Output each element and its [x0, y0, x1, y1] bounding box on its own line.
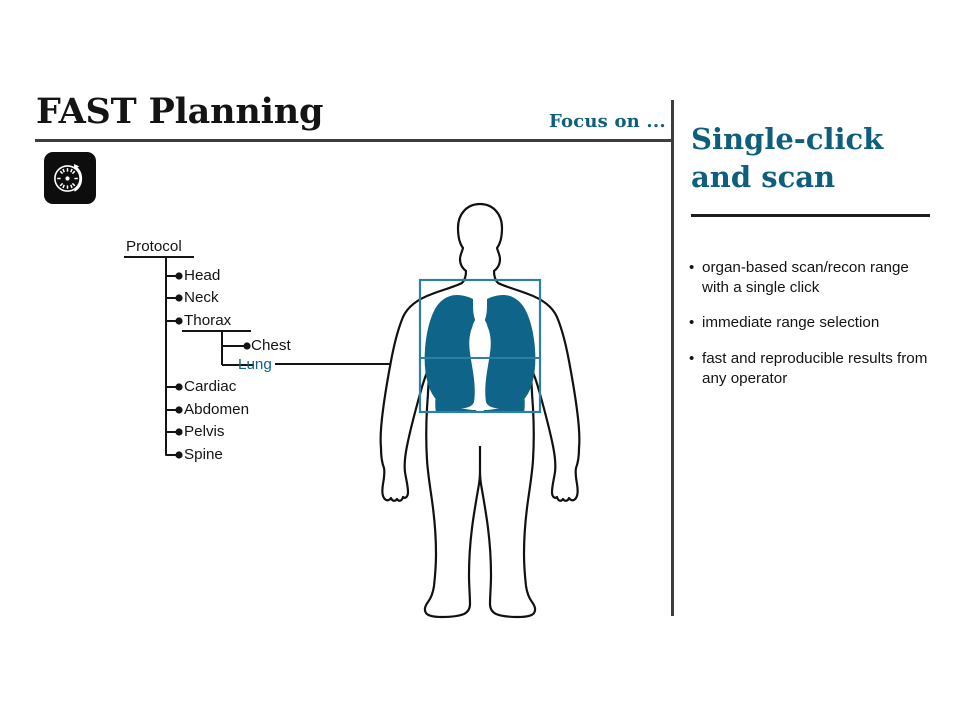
tree-item-head[interactable]: Head — [184, 267, 220, 284]
tree-item-thorax[interactable]: Thorax — [184, 312, 231, 329]
tree-root-label[interactable]: Protocol — [126, 238, 182, 255]
tree-item-lung[interactable]: Lung — [238, 356, 272, 373]
panel-heading-line2: and scan — [691, 158, 941, 196]
slide-canvas: FAST Planning — [0, 0, 960, 720]
scan-dial-icon — [44, 152, 96, 204]
tree-item-cardiac[interactable]: Cardiac — [184, 378, 236, 395]
page-title: FAST Planning — [36, 94, 323, 129]
panel-heading-line1: Single-click — [691, 120, 941, 158]
tree-item-abdomen[interactable]: Abdomen — [184, 401, 249, 418]
panel-heading-rule — [691, 214, 930, 217]
title-divider-rule — [35, 139, 672, 142]
human-body-figure — [370, 198, 590, 623]
panel-bullet-list: organ-based scan/recon range with a sing… — [689, 258, 937, 389]
tree-item-pelvis[interactable]: Pelvis — [184, 423, 225, 440]
list-item: fast and reproducible results from any o… — [689, 349, 937, 389]
focus-on-label: Focus on ... — [549, 111, 666, 132]
list-item: organ-based scan/recon range with a sing… — [689, 258, 937, 298]
tree-item-neck[interactable]: Neck — [184, 289, 219, 306]
panel-heading: Single-click and scan — [691, 120, 941, 197]
panel-divider — [671, 100, 674, 616]
tree-item-spine[interactable]: Spine — [184, 446, 223, 463]
list-item: immediate range selection — [689, 313, 937, 333]
